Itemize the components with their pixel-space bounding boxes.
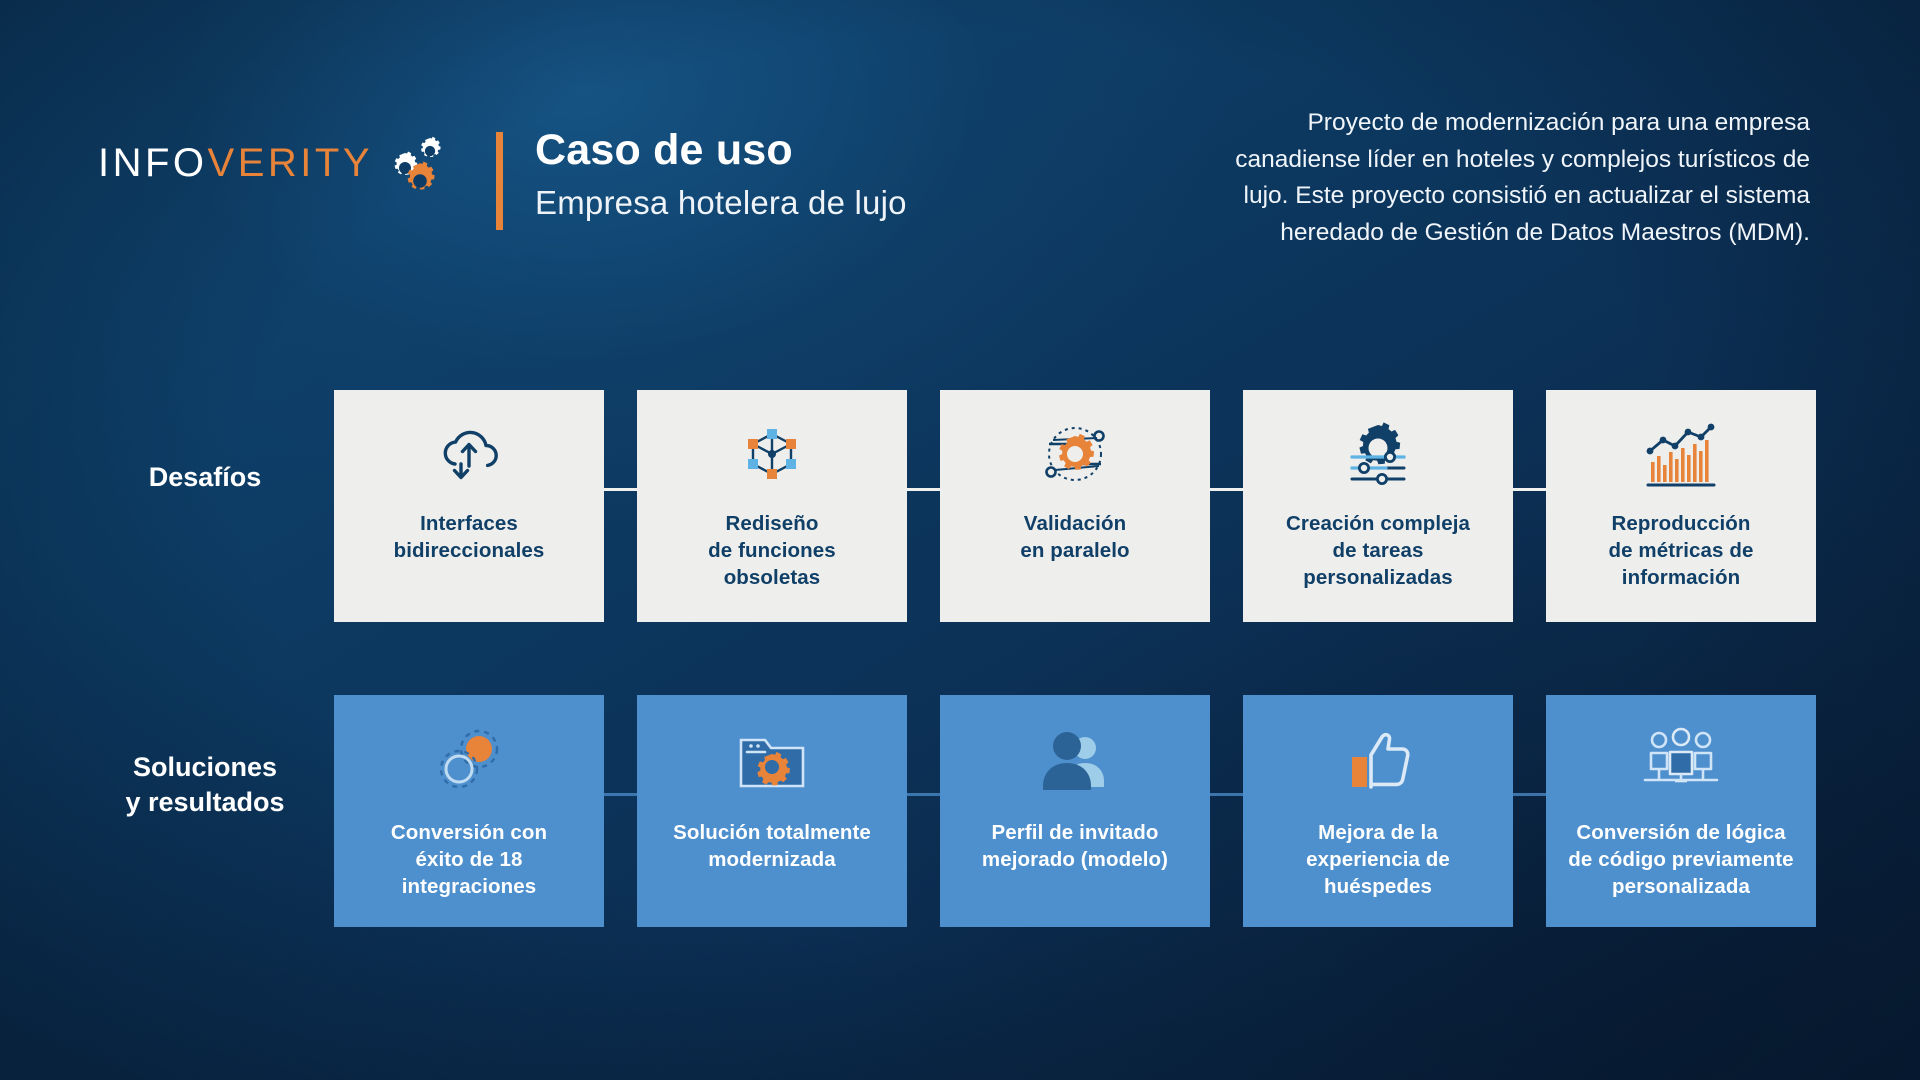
challenge-card-5[interactable]: Reproducciónde métricas deinformación: [1546, 390, 1816, 622]
challenge-card-1[interactable]: Interfacesbidireccionales: [334, 390, 604, 622]
slide-background: INFOVERITY: [0, 0, 1920, 1080]
team-group-icon: [1560, 717, 1802, 801]
challenge-card-4[interactable]: Creación complejade tareaspersonalizadas: [1243, 390, 1513, 622]
logo-text-verity: VERITY: [208, 141, 373, 185]
thumbs-up-icon: [1257, 717, 1499, 801]
card-connector: [1512, 793, 1547, 796]
logo-text-info: INFO: [98, 141, 208, 185]
challenge-card-3[interactable]: Validaciónen paralelo: [940, 390, 1210, 622]
card-connector: [906, 488, 941, 491]
card-label: Validaciónen paralelo: [1020, 510, 1129, 564]
row-label-challenges: Desafíos: [75, 460, 335, 495]
gears-icon: [383, 132, 493, 194]
solution-card-4[interactable]: Mejora de laexperiencia dehuéspedes: [1243, 695, 1513, 927]
bar-line-chart-icon: [1560, 412, 1802, 496]
solutions-row: Solucionesy resultados Conversión conéxi…: [0, 695, 1920, 935]
folder-gear-icon: [651, 717, 893, 801]
solution-card-5[interactable]: Conversión de lógicade código previament…: [1546, 695, 1816, 927]
solution-card-3[interactable]: Perfil de invitadomejorado (modelo): [940, 695, 1210, 927]
solutions-card-list: Conversión conéxito de 18integraciones: [334, 695, 1816, 927]
intro-paragraph: Proyecto de modernización para una empre…: [1190, 105, 1810, 251]
card-connector: [603, 488, 638, 491]
challenge-card-2[interactable]: Rediseñode funcionesobsoletas: [637, 390, 907, 622]
card-connector: [1512, 488, 1547, 491]
card-label: Conversión conéxito de 18integraciones: [391, 819, 547, 900]
challenges-row: Desafíos Interfacesbidireccionales: [0, 390, 1920, 630]
title-divider: [496, 132, 503, 230]
cloud-sync-icon: [348, 412, 590, 496]
page-subtitle: Empresa hotelera de lujo: [535, 182, 907, 223]
card-label: Mejora de laexperiencia dehuéspedes: [1306, 819, 1450, 900]
merge-circles-icon: [348, 717, 590, 801]
gear-settings-icon: [1257, 412, 1499, 496]
logo-wordmark: INFOVERITY: [98, 143, 373, 183]
card-label: Creación complejade tareaspersonalizadas: [1286, 510, 1470, 591]
solution-card-1[interactable]: Conversión conéxito de 18integraciones: [334, 695, 604, 927]
slide-header: INFOVERITY: [0, 0, 1920, 330]
card-label: Perfil de invitadomejorado (modelo): [982, 819, 1168, 873]
solution-card-2[interactable]: Solución totalmentemodernizada: [637, 695, 907, 927]
card-label: Interfacesbidireccionales: [394, 510, 545, 564]
page-title: Caso de uso: [535, 125, 907, 176]
card-connector: [1209, 488, 1244, 491]
card-connector: [906, 793, 941, 796]
challenges-card-list: Interfacesbidireccionales: [334, 390, 1816, 622]
gear-orbit-icon: [954, 412, 1196, 496]
row-label-solutions: Solucionesy resultados: [75, 750, 335, 820]
title-block: Caso de uso Empresa hotelera de lujo: [535, 125, 907, 223]
card-connector: [603, 793, 638, 796]
infoverity-logo: INFOVERITY: [98, 132, 493, 194]
card-label: Solución totalmentemodernizada: [673, 819, 871, 873]
network-nodes-icon: [651, 412, 893, 496]
card-connector: [1209, 793, 1244, 796]
card-label: Reproducciónde métricas deinformación: [1609, 510, 1754, 591]
card-label: Rediseñode funcionesobsoletas: [708, 510, 836, 591]
user-profile-icon: [954, 717, 1196, 801]
card-label: Conversión de lógicade código previament…: [1568, 819, 1793, 900]
